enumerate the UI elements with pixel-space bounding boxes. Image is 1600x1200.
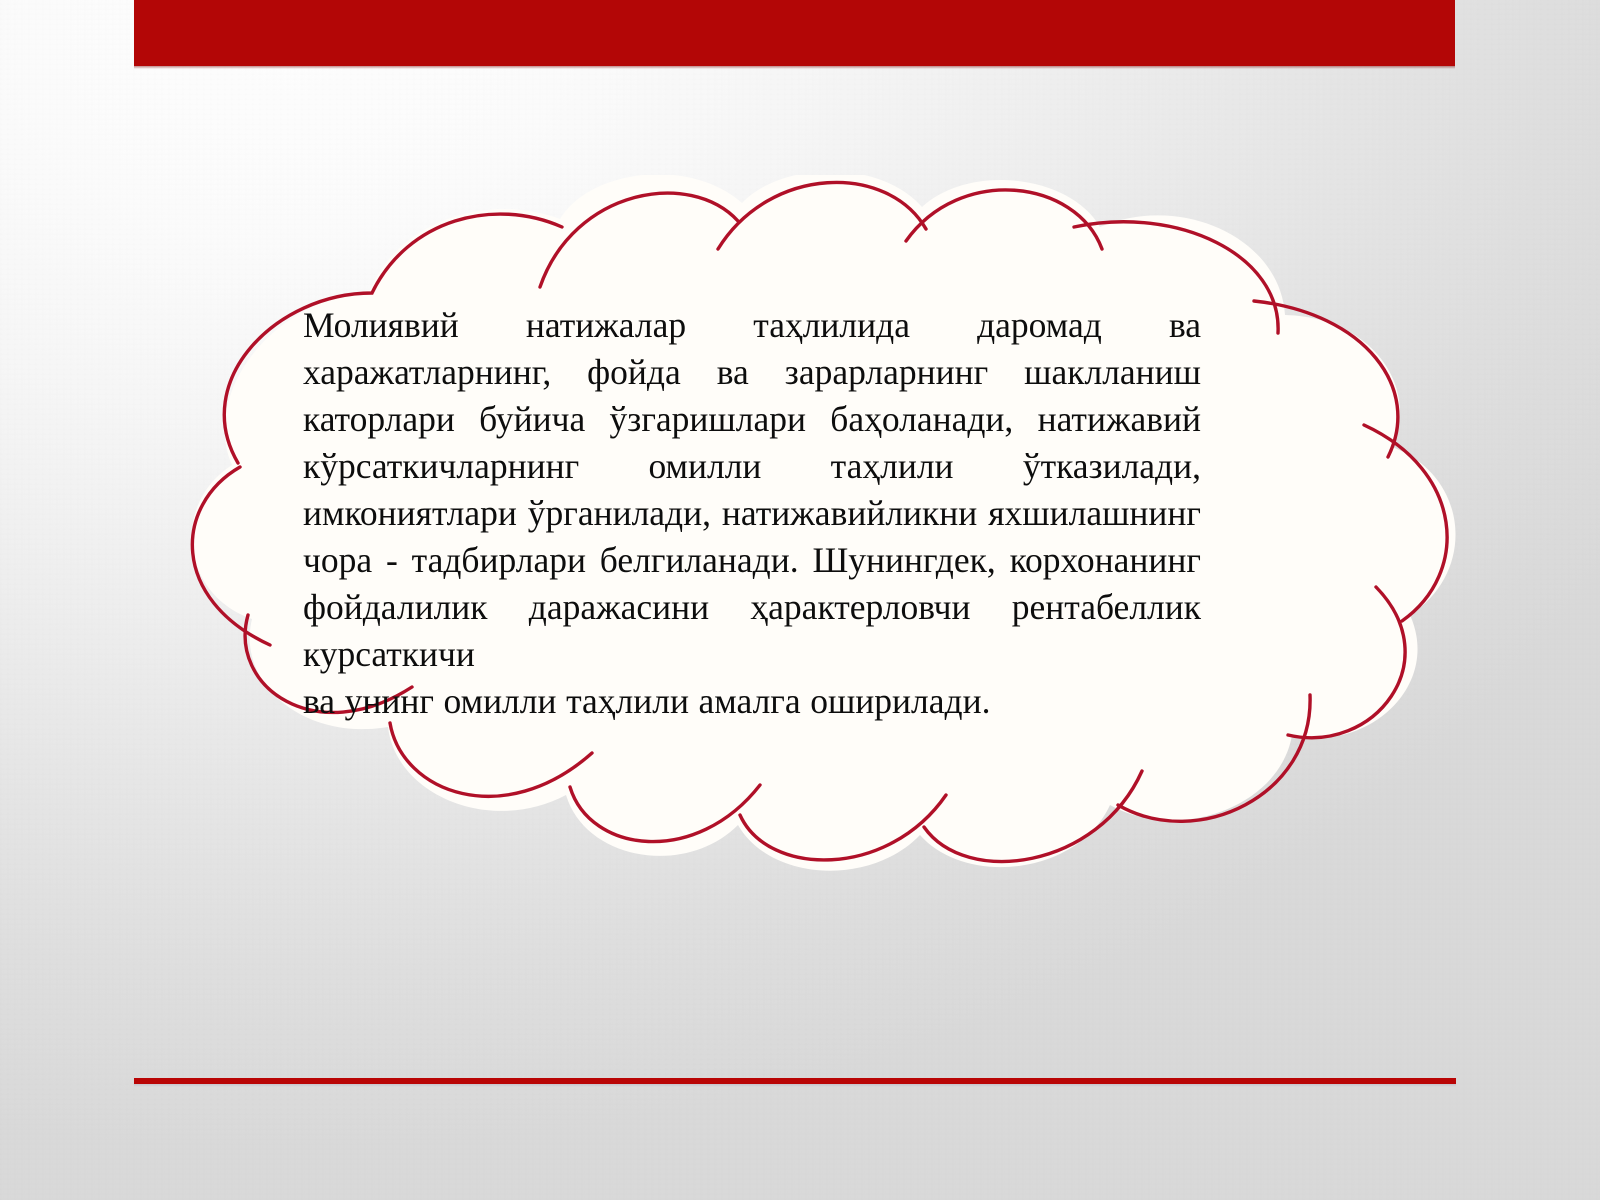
top-red-banner-shadow <box>134 66 1455 69</box>
callout-body-last-line: ва унинг омилли таҳлили амалга оширилади… <box>303 678 1201 725</box>
top-red-banner <box>134 0 1455 66</box>
bottom-red-rule-shadow <box>134 1084 1456 1087</box>
callout-body-text: Молиявий натижалар таҳлилида даромад ва … <box>303 302 1201 725</box>
slide-canvas: Молиявий натижалар таҳлилида даромад ва … <box>0 0 1600 1200</box>
callout-body-paragraph: Молиявий натижалар таҳлилида даромад ва … <box>303 305 1201 674</box>
